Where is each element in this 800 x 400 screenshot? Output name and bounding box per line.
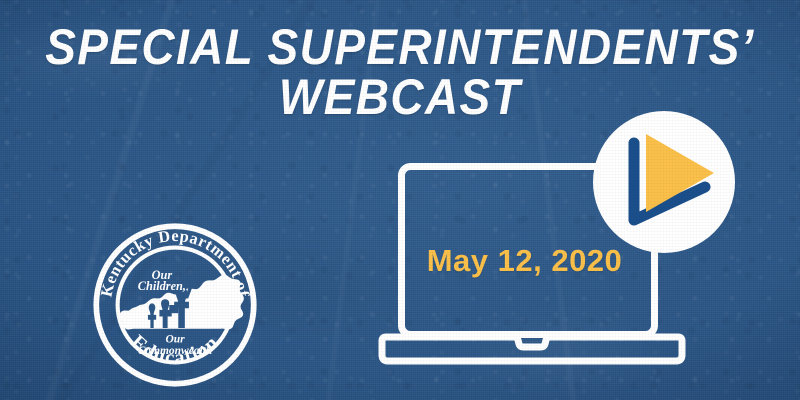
seal-inner-children: Children, [138,279,186,293]
laptop-base-outline [382,337,682,361]
seal-inner-our-2: Our [165,334,185,346]
kde-seal-logo: Kentucky Department of Education [93,223,257,387]
seal-inner-commonwealth: Commonwealth [138,345,213,357]
webcast-banner: SPECIAL SUPERINTENDENTS’ WEBCAST Kentuck… [0,0,800,400]
play-button-badge[interactable] [592,110,736,254]
page-title: SPECIAL SUPERINTENDENTS’ WEBCAST [32,22,768,122]
